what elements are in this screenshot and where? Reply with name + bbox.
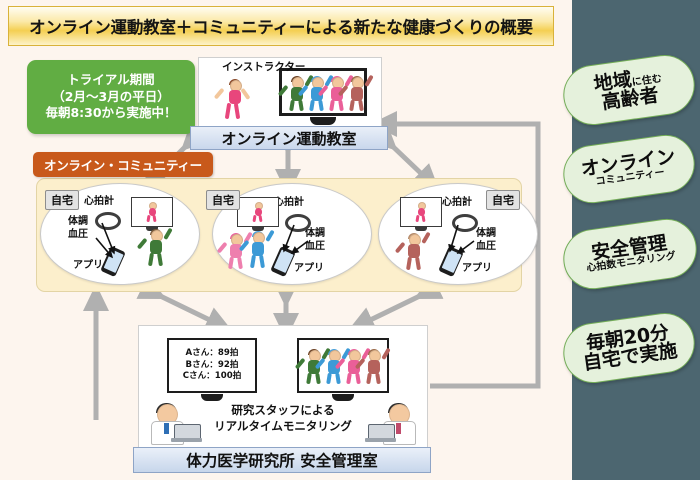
trial-line-3: 毎朝8:30から実施中！ bbox=[45, 105, 176, 122]
participant-figure bbox=[324, 350, 344, 382]
tv-stand-icon bbox=[310, 117, 336, 125]
leg-right-icon bbox=[335, 373, 341, 384]
community-label-text: オンライン・コミュニティー bbox=[44, 158, 202, 173]
research-staff-right bbox=[365, 404, 419, 444]
necktie-icon bbox=[164, 423, 169, 434]
monitoring-panel: Aさん：89拍 Bさん：92拍 Cさん：100拍 bbox=[138, 325, 428, 449]
page-title: オンライン運動教室＋コミュニティーによる新たな健康づくりの概要 bbox=[29, 14, 533, 38]
laptop-base bbox=[171, 438, 202, 442]
leg-left-icon bbox=[309, 100, 315, 111]
arm-left-icon bbox=[214, 88, 225, 100]
home-badge-1: 自宅 bbox=[45, 190, 79, 210]
torso-icon bbox=[229, 90, 241, 104]
necktie-icon bbox=[396, 423, 401, 434]
leg-left-icon bbox=[366, 373, 372, 384]
home-badge-2: 自宅 bbox=[206, 190, 240, 210]
leg-right-icon bbox=[375, 373, 381, 384]
participant-figure bbox=[327, 77, 347, 109]
leg-left-icon bbox=[326, 373, 332, 384]
instructor-figure bbox=[223, 80, 247, 122]
online-class-caption-text: オンライン運動教室 bbox=[221, 128, 356, 149]
home-badge-3: 自宅 bbox=[486, 190, 520, 210]
heart-rate-row: Bさん：92拍 bbox=[186, 360, 239, 372]
participant-figure bbox=[304, 350, 324, 382]
trial-line-2: （2月～3月の平日） bbox=[52, 89, 169, 106]
community-label: オンライン・コミュニティー bbox=[33, 152, 213, 177]
side-pill-1-big: 高齢者 bbox=[601, 86, 660, 113]
leg-right-icon bbox=[234, 103, 240, 119]
monitoring-caption-text: 体力医学研究所 安全管理室 bbox=[186, 449, 377, 471]
arm-right-icon bbox=[381, 348, 390, 360]
trial-line-1: トライアル期間 bbox=[67, 72, 154, 89]
heart-rate-monitor-screen: Aさん：89拍 Bさん：92拍 Cさん：100拍 bbox=[167, 338, 257, 393]
online-class-caption: オンライン運動教室 bbox=[190, 126, 388, 150]
leg-left-icon bbox=[329, 100, 335, 111]
heart-rate-row: Cさん：100拍 bbox=[183, 371, 242, 383]
class-tv-screen bbox=[279, 68, 367, 116]
instructor-label: インストラクター bbox=[222, 59, 305, 74]
leg-right-icon bbox=[355, 373, 361, 384]
infographic-root: オンライン運動教室＋コミュニティーによる新たな健康づくりの概要 トライアル期間 … bbox=[0, 0, 700, 480]
arm-right-icon bbox=[240, 88, 250, 100]
leg-left-icon bbox=[225, 103, 231, 119]
participant-figure bbox=[307, 77, 327, 109]
home-3-data-arrows bbox=[378, 183, 548, 293]
leg-left-icon bbox=[306, 373, 312, 384]
leg-right-icon bbox=[298, 100, 304, 111]
heart-rate-row: Aさん：89拍 bbox=[186, 348, 239, 360]
leg-right-icon bbox=[338, 100, 344, 111]
participant-figure bbox=[344, 350, 364, 382]
research-staff-left bbox=[149, 404, 203, 444]
participant-figure bbox=[364, 350, 384, 382]
laptop-base bbox=[365, 438, 396, 442]
monitoring-caption: 体力医学研究所 安全管理室 bbox=[133, 447, 431, 473]
participant-figure bbox=[347, 77, 367, 109]
arm-right-icon bbox=[364, 75, 373, 87]
torso-icon bbox=[351, 87, 363, 101]
trial-period-box: トライアル期間 （2月～3月の平日） 毎朝8:30から実施中！ bbox=[27, 60, 195, 134]
leg-right-icon bbox=[358, 100, 364, 111]
laptop-icon bbox=[365, 424, 395, 442]
group-video-monitor-screen bbox=[297, 338, 389, 393]
leg-left-icon bbox=[349, 100, 355, 111]
leg-left-icon bbox=[289, 100, 295, 111]
leg-right-icon bbox=[315, 373, 321, 384]
arm-left-icon bbox=[278, 85, 289, 97]
laptop-icon bbox=[171, 424, 201, 442]
page-title-banner: オンライン運動教室＋コミュニティーによる新たな健康づくりの概要 bbox=[8, 6, 554, 46]
participant-figure bbox=[287, 77, 307, 109]
arm-left-icon bbox=[295, 358, 306, 370]
leg-left-icon bbox=[346, 373, 352, 384]
torso-icon bbox=[368, 360, 380, 374]
leg-right-icon bbox=[318, 100, 324, 111]
